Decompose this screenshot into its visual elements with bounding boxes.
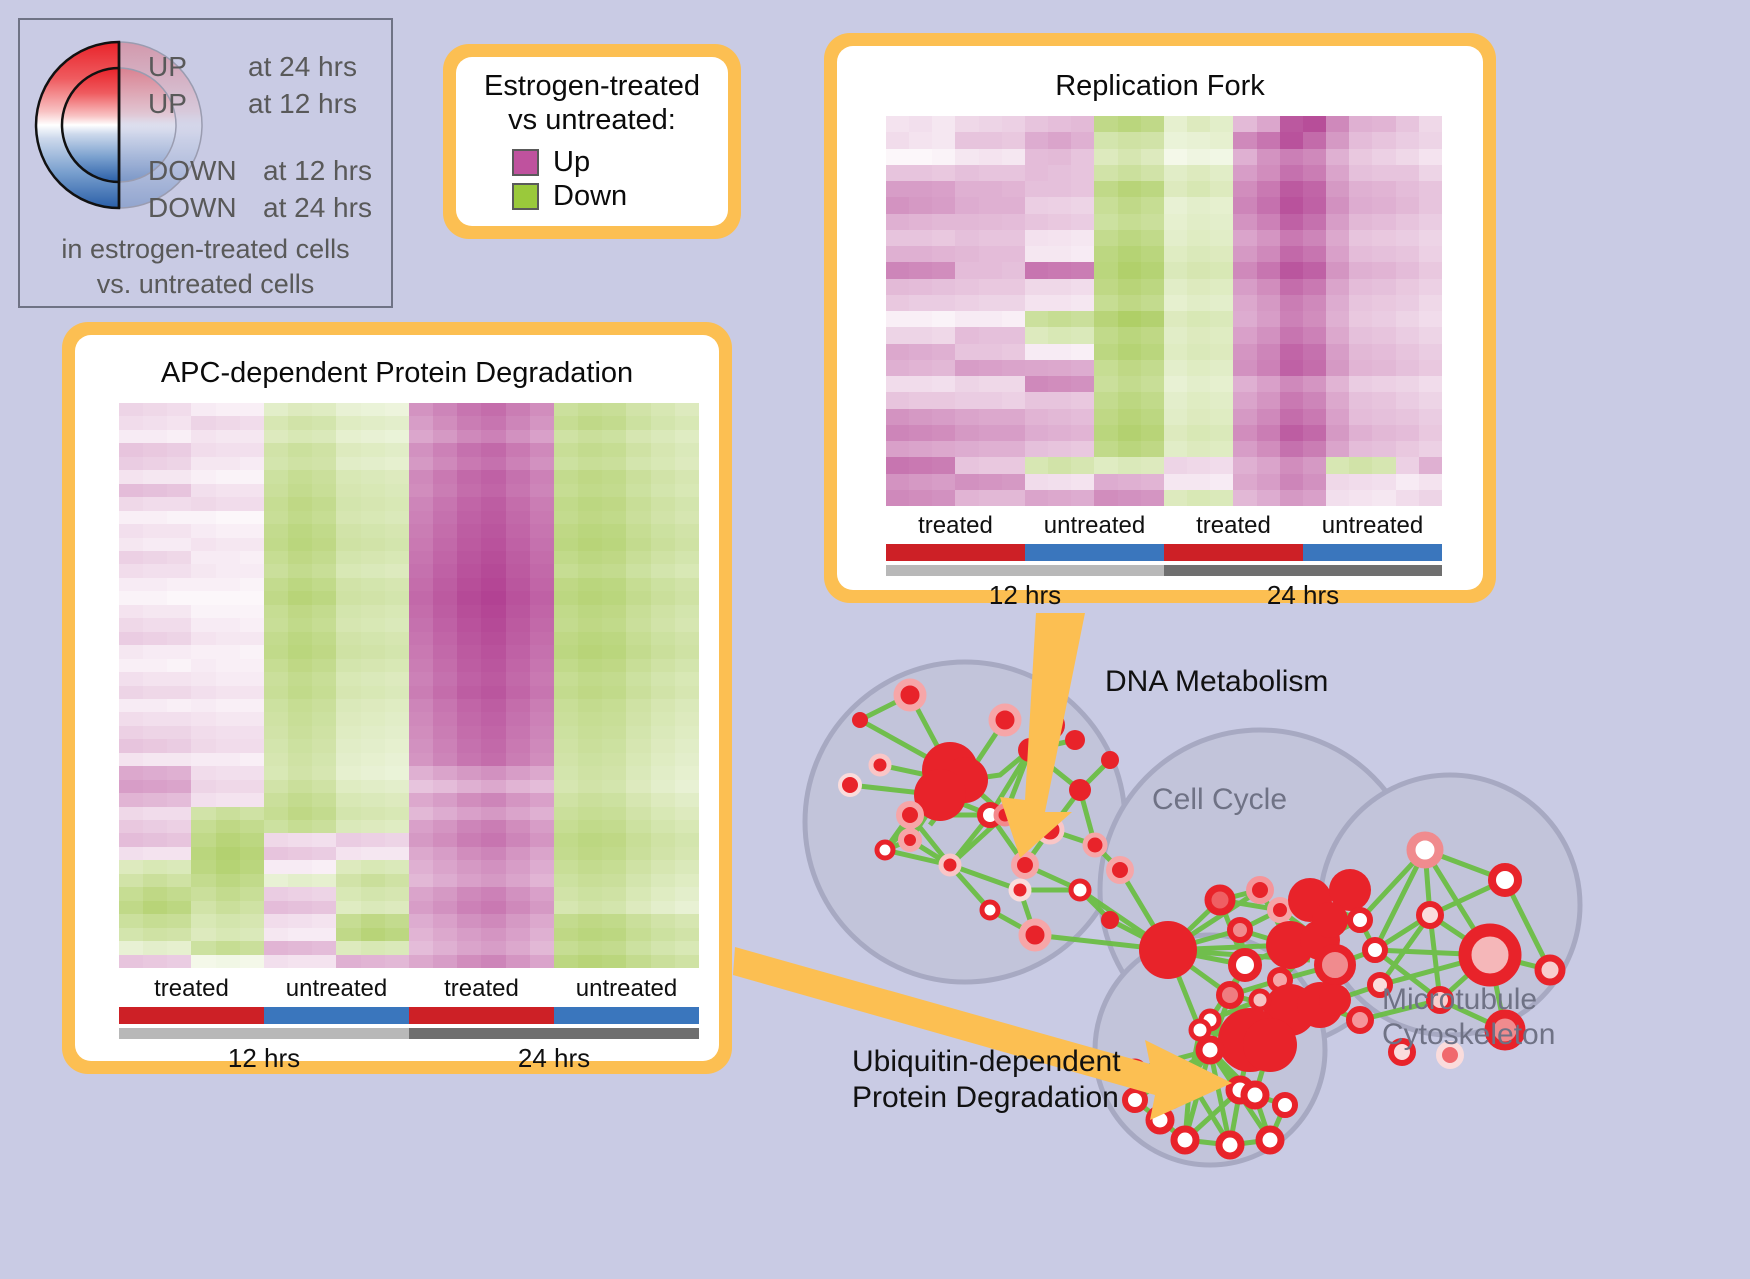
heatmap-cell — [626, 591, 650, 604]
apc-bar-treated-24 — [409, 1007, 554, 1024]
heatmap-cell — [457, 820, 481, 833]
heatmap-cell — [433, 470, 457, 483]
heatmap-cell — [554, 887, 578, 900]
heatmap-cell — [385, 618, 409, 631]
heatmap-cell — [578, 753, 602, 766]
heatmap-cell — [1210, 392, 1233, 408]
heatmap-cell — [119, 659, 143, 672]
heatmap-cell — [240, 914, 264, 927]
apc-panel: APC-dependent Protein Degradation treate… — [62, 322, 732, 1074]
heatmap-cell — [191, 484, 215, 497]
heatmap-cell — [1280, 181, 1303, 197]
heatmap-cell — [979, 230, 1002, 246]
heatmap-cell — [1419, 409, 1442, 425]
heatmap-cell — [1025, 181, 1048, 197]
heatmap-cell — [651, 901, 675, 914]
heatmap-cell — [191, 712, 215, 725]
heatmap-cell — [119, 833, 143, 846]
heatmap-cell — [409, 457, 433, 470]
heatmap-cell — [675, 901, 699, 914]
heatmap-cell — [143, 416, 167, 429]
heatmap-cell — [361, 941, 385, 954]
heatmap-cell — [1164, 425, 1187, 441]
heatmap-cell — [143, 605, 167, 618]
heatmap-cell — [312, 578, 336, 591]
heatmap-cell — [675, 739, 699, 752]
heatmap-cell — [191, 766, 215, 779]
heatmap-cell — [1002, 149, 1025, 165]
heatmap-cell — [1025, 116, 1048, 132]
heatmap-cell — [143, 807, 167, 820]
heatmap-cell — [1025, 360, 1048, 376]
heatmap-cell — [457, 726, 481, 739]
heatmap-cell — [1048, 149, 1071, 165]
heatmap-cell — [191, 780, 215, 793]
heatmap-cell — [578, 484, 602, 497]
heatmap-cell — [1141, 132, 1164, 148]
heatmap-cell — [361, 564, 385, 577]
heatmap-cell — [240, 847, 264, 860]
heatmap-cell — [361, 712, 385, 725]
heatmap-cell — [167, 766, 191, 779]
heatmap-cell — [1071, 181, 1094, 197]
heatmap-cell — [216, 753, 240, 766]
heatmap-cell — [167, 497, 191, 510]
up-swatch-icon — [512, 149, 539, 176]
heatmap-cell — [1257, 262, 1280, 278]
heatmap-cell — [119, 753, 143, 766]
heatmap-cell — [506, 524, 530, 537]
heatmap-cell — [385, 578, 409, 591]
heatmap-cell — [1396, 149, 1419, 165]
heatmap-cell — [433, 564, 457, 577]
heatmap-cell — [143, 497, 167, 510]
heatmap-cell — [264, 874, 288, 887]
heatmap-cell — [578, 807, 602, 820]
color-key-box: UP at 24 hrs UP at 12 hrs DOWN at 12 hrs… — [18, 18, 393, 308]
heatmap-cell — [312, 524, 336, 537]
heatmap-cell — [1164, 344, 1187, 360]
heatmap-cell — [530, 578, 554, 591]
heatmap-cell — [409, 497, 433, 510]
heatmap-cell — [457, 416, 481, 429]
heatmap-cell — [240, 901, 264, 914]
apc-timebar-12 — [119, 1028, 409, 1039]
heatmap-cell — [457, 780, 481, 793]
heatmap-cell — [578, 564, 602, 577]
heatmap-cell — [433, 807, 457, 820]
heatmap-cell — [578, 551, 602, 564]
heatmap-cell — [554, 605, 578, 618]
heatmap-cell — [433, 887, 457, 900]
heatmap-cell — [602, 578, 626, 591]
heatmap-cell — [409, 712, 433, 725]
heatmap-cell — [167, 484, 191, 497]
heatmap-cell — [361, 766, 385, 779]
heatmap-cell — [578, 511, 602, 524]
heatmap-cell — [457, 793, 481, 806]
heatmap-cell — [1002, 425, 1025, 441]
heatmap-cell — [385, 511, 409, 524]
heatmap-cell — [530, 538, 554, 551]
heatmap-cell — [1141, 457, 1164, 473]
heatmap-cell — [457, 470, 481, 483]
heatmap-cell — [481, 618, 505, 631]
heatmap-cell — [578, 699, 602, 712]
heatmap-cell — [1187, 116, 1210, 132]
heatmap-cell — [979, 457, 1002, 473]
heatmap-cell — [626, 632, 650, 645]
legend-title-line2: vs untreated: — [456, 104, 728, 138]
heatmap-cell — [578, 443, 602, 456]
heatmap-cell — [409, 686, 433, 699]
heatmap-cell — [1071, 197, 1094, 213]
heatmap-cell — [1118, 116, 1141, 132]
heatmap-cell — [1303, 181, 1326, 197]
key-up-24-time: at 24 hrs — [248, 51, 357, 83]
heatmap-cell — [554, 659, 578, 672]
heatmap-cell — [1164, 214, 1187, 230]
heatmap-cell — [1048, 165, 1071, 181]
heatmap-cell — [119, 578, 143, 591]
heatmap-cell — [1025, 490, 1048, 506]
heatmap-cell — [1118, 230, 1141, 246]
heatmap-cell — [1210, 441, 1233, 457]
heatmap-cell — [409, 860, 433, 873]
heatmap-cell — [361, 618, 385, 631]
key-down-24-time: at 24 hrs — [263, 192, 372, 224]
heatmap-cell — [675, 538, 699, 551]
heatmap-cell — [361, 726, 385, 739]
heatmap-cell — [167, 874, 191, 887]
heatmap-cell — [675, 941, 699, 954]
heatmap-cell — [1002, 165, 1025, 181]
heatmap-cell — [1349, 149, 1372, 165]
heatmap-cell — [1164, 327, 1187, 343]
legend-down-label: Down — [553, 180, 627, 213]
heatmap-cell — [433, 430, 457, 443]
heatmap-cell — [361, 457, 385, 470]
heatmap-cell — [675, 928, 699, 941]
heatmap-cell — [578, 860, 602, 873]
heatmap-cell — [361, 524, 385, 537]
heatmap-cell — [119, 672, 143, 685]
heatmap-cell — [626, 430, 650, 443]
heatmap-cell — [481, 416, 505, 429]
heatmap-cell — [554, 686, 578, 699]
heatmap-cell — [602, 457, 626, 470]
heatmap-cell — [909, 441, 932, 457]
heatmap-cell — [361, 470, 385, 483]
heatmap-cell — [336, 928, 360, 941]
heatmap-cell — [675, 457, 699, 470]
heatmap-cell — [530, 820, 554, 833]
heatmap-cell — [1118, 262, 1141, 278]
heatmap-cell — [385, 524, 409, 537]
heatmap-cell — [1396, 425, 1419, 441]
heatmap-cell — [191, 538, 215, 551]
heatmap-cell — [1002, 230, 1025, 246]
heatmap-cell — [240, 605, 264, 618]
heatmap-cell — [1048, 295, 1071, 311]
heatmap-cell — [909, 246, 932, 262]
heatmap-cell — [506, 578, 530, 591]
heatmap-cell — [457, 511, 481, 524]
heatmap-cell — [1349, 132, 1372, 148]
heatmap-cell — [433, 686, 457, 699]
heatmap-cell — [288, 497, 312, 510]
heatmap-cell — [312, 457, 336, 470]
heatmap-cell — [361, 551, 385, 564]
heatmap-cell — [1280, 457, 1303, 473]
heatmap-cell — [1094, 181, 1117, 197]
heatmap-cell — [288, 645, 312, 658]
heatmap-cell — [457, 605, 481, 618]
heatmap-cell — [1094, 441, 1117, 457]
heatmap-cell — [336, 887, 360, 900]
heatmap-cell — [1187, 230, 1210, 246]
heatmap-cell — [1326, 246, 1349, 262]
heatmap-cell — [433, 672, 457, 685]
heatmap-cell — [385, 793, 409, 806]
heatmap-cell — [1303, 116, 1326, 132]
heatmap-cell — [578, 524, 602, 537]
heatmap-cell — [506, 538, 530, 551]
heatmap-cell — [955, 474, 978, 490]
heatmap-cell — [1396, 344, 1419, 360]
heatmap-cell — [264, 605, 288, 618]
heatmap-cell — [361, 820, 385, 833]
heatmap-cell — [1210, 376, 1233, 392]
heatmap-cell — [433, 914, 457, 927]
heatmap-cell — [361, 672, 385, 685]
heatmap-cell — [167, 753, 191, 766]
heatmap-cell — [554, 914, 578, 927]
heatmap-cell — [1257, 311, 1280, 327]
heatmap-cell — [361, 497, 385, 510]
heatmap-cell — [1141, 262, 1164, 278]
heatmap-cell — [1233, 181, 1256, 197]
heatmap-cell — [457, 860, 481, 873]
heatmap-cell — [361, 605, 385, 618]
heatmap-cell — [554, 847, 578, 860]
heatmap-cell — [602, 511, 626, 524]
heatmap-cell — [554, 672, 578, 685]
heatmap-cell — [216, 484, 240, 497]
heatmap-cell — [1141, 425, 1164, 441]
rf-group-label-0: treated — [886, 512, 1025, 540]
heatmap-cell — [240, 632, 264, 645]
heatmap-cell — [602, 659, 626, 672]
heatmap-cell — [385, 847, 409, 860]
heatmap-cell — [312, 833, 336, 846]
heatmap-cell — [1210, 425, 1233, 441]
apc-time-label-12: 12 hrs — [119, 1043, 409, 1074]
heatmap-cell — [651, 538, 675, 551]
heatmap-cell — [288, 416, 312, 429]
heatmap-cell — [1187, 246, 1210, 262]
heatmap-cell — [167, 430, 191, 443]
heatmap-cell — [530, 833, 554, 846]
heatmap-cell — [433, 753, 457, 766]
heatmap-cell — [336, 511, 360, 524]
heatmap-cell — [191, 497, 215, 510]
heatmap-cell — [1349, 116, 1372, 132]
heatmap-cell — [191, 739, 215, 752]
heatmap-cell — [979, 311, 1002, 327]
apc-group-label-0: treated — [119, 975, 264, 1003]
heatmap-cell — [1257, 246, 1280, 262]
heatmap-cell — [602, 914, 626, 927]
heatmap-cell — [626, 484, 650, 497]
heatmap-cell — [312, 901, 336, 914]
heatmap-cell — [457, 847, 481, 860]
heatmap-cell — [1233, 246, 1256, 262]
heatmap-cell — [530, 928, 554, 941]
heatmap-cell — [626, 645, 650, 658]
heatmap-cell — [886, 230, 909, 246]
heatmap-cell — [1094, 474, 1117, 490]
heatmap-cell — [167, 403, 191, 416]
heatmap-cell — [385, 860, 409, 873]
heatmap-cell — [886, 214, 909, 230]
heatmap-cell — [578, 497, 602, 510]
heatmap-cell — [675, 793, 699, 806]
heatmap-cell — [216, 928, 240, 941]
heatmap-cell — [216, 686, 240, 699]
heatmap-cell — [1257, 165, 1280, 181]
apc-group-label-1: untreated — [264, 975, 409, 1003]
heatmap-cell — [312, 780, 336, 793]
heatmap-cell — [167, 887, 191, 900]
heatmap-cell — [119, 793, 143, 806]
heatmap-cell — [288, 847, 312, 860]
heatmap-cell — [1233, 344, 1256, 360]
rf-time-bar — [886, 565, 1442, 576]
heatmap-cell — [433, 605, 457, 618]
heatmap-cell — [626, 726, 650, 739]
heatmap-cell — [191, 470, 215, 483]
rf-timebar-24 — [1164, 565, 1442, 576]
heatmap-cell — [955, 457, 978, 473]
heatmap-cell — [955, 197, 978, 213]
heatmap-cell — [1419, 214, 1442, 230]
heatmap-cell — [433, 511, 457, 524]
heatmap-cell — [119, 524, 143, 537]
heatmap-cell — [481, 430, 505, 443]
heatmap-cell — [675, 564, 699, 577]
heatmap-cell — [1187, 181, 1210, 197]
heatmap-cell — [1187, 360, 1210, 376]
heatmap-cell — [409, 874, 433, 887]
heatmap-cell — [651, 484, 675, 497]
heatmap-cell — [1349, 311, 1372, 327]
heatmap-cell — [312, 632, 336, 645]
heatmap-cell — [385, 403, 409, 416]
heatmap-cell — [481, 739, 505, 752]
heatmap-cell — [312, 686, 336, 699]
heatmap-cell — [506, 820, 530, 833]
heatmap-cell — [119, 739, 143, 752]
heatmap-cell — [1372, 441, 1395, 457]
heatmap-cell — [626, 739, 650, 752]
heatmap-cell — [1002, 279, 1025, 295]
heatmap-cell — [191, 753, 215, 766]
heatmap-cell — [191, 726, 215, 739]
heatmap-cell — [457, 712, 481, 725]
heatmap-cell — [530, 511, 554, 524]
heatmap-cell — [506, 416, 530, 429]
heatmap-cell — [457, 887, 481, 900]
heatmap-cell — [955, 246, 978, 262]
heatmap-cell — [1349, 197, 1372, 213]
heatmap-cell — [457, 551, 481, 564]
heatmap-cell — [626, 941, 650, 954]
heatmap-cell — [530, 753, 554, 766]
heatmap-cell — [530, 457, 554, 470]
heatmap-cell — [264, 928, 288, 941]
heatmap-cell — [554, 484, 578, 497]
heatmap-cell — [626, 901, 650, 914]
heatmap-cell — [1048, 311, 1071, 327]
heatmap-cell — [240, 591, 264, 604]
heatmap-cell — [240, 403, 264, 416]
heatmap-cell — [1419, 132, 1442, 148]
heatmap-cell — [602, 632, 626, 645]
heatmap-cell — [336, 645, 360, 658]
heatmap-cell — [433, 766, 457, 779]
heatmap-cell — [1094, 246, 1117, 262]
heatmap-cell — [1025, 214, 1048, 230]
heatmap-cell — [886, 474, 909, 490]
heatmap-cell — [1187, 197, 1210, 213]
heatmap-cell — [240, 807, 264, 820]
heatmap-cell — [651, 497, 675, 510]
heatmap-cell — [1257, 360, 1280, 376]
heatmap-cell — [167, 524, 191, 537]
heatmap-cell — [651, 793, 675, 806]
heatmap-cell — [167, 443, 191, 456]
heatmap-cell — [1094, 262, 1117, 278]
heatmap-cell — [288, 739, 312, 752]
heatmap-cell — [1396, 376, 1419, 392]
heatmap-cell — [119, 416, 143, 429]
heatmap-cell — [361, 807, 385, 820]
heatmap-cell — [626, 712, 650, 725]
heatmap-cell — [955, 360, 978, 376]
heatmap-cell — [433, 524, 457, 537]
heatmap-cell — [530, 699, 554, 712]
heatmap-cell — [409, 901, 433, 914]
heatmap-cell — [385, 780, 409, 793]
heatmap-cell — [955, 230, 978, 246]
heatmap-cell — [216, 887, 240, 900]
heatmap-cell — [1326, 262, 1349, 278]
heatmap-cell — [1372, 149, 1395, 165]
heatmap-cell — [385, 753, 409, 766]
heatmap-cell — [191, 672, 215, 685]
heatmap-cell — [143, 699, 167, 712]
heatmap-cell — [675, 807, 699, 820]
heatmap-cell — [433, 484, 457, 497]
heatmap-cell — [651, 739, 675, 752]
heatmap-cell — [1280, 490, 1303, 506]
heatmap-cell — [409, 403, 433, 416]
heatmap-cell — [143, 739, 167, 752]
heatmap-cell — [409, 820, 433, 833]
heatmap-cell — [909, 132, 932, 148]
heatmap-cell — [1372, 490, 1395, 506]
